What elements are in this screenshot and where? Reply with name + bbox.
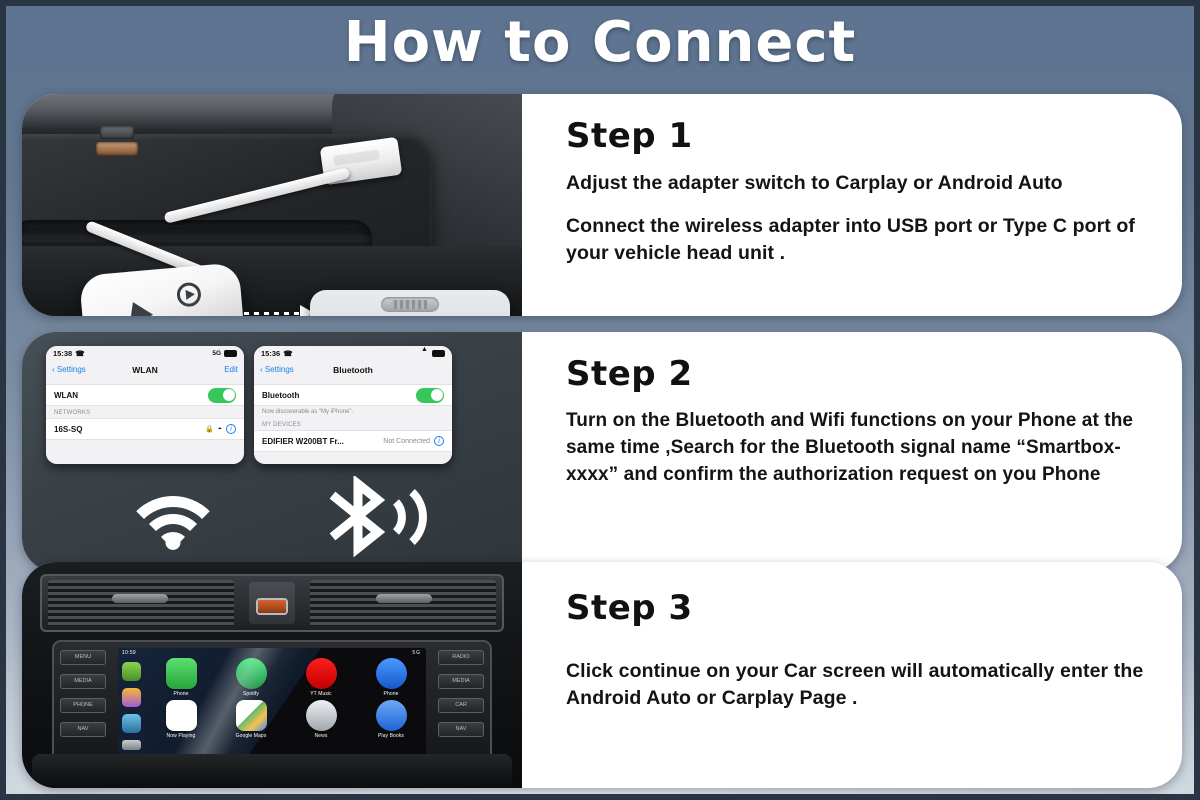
switch-slider-icon — [381, 297, 439, 312]
battery-icon — [432, 350, 445, 357]
air-vent-knob-right — [376, 594, 432, 603]
headunit-button-right-4[interactable]: NAV — [438, 722, 484, 737]
headunit-button-left-4[interactable]: NAV — [60, 722, 106, 737]
bluetooth-phone-body: Bluetooth Now discoverable as “My iPhone… — [254, 378, 452, 464]
info-icon[interactable]: i — [434, 436, 444, 446]
wifi-settings-phone: 15:38 ☎ 5G ‹ Settings WLAN Edit — [46, 346, 244, 464]
step-1-body: Adjust the adapter switch to Carplay or … — [566, 170, 1152, 267]
nav-title: Bluetooth — [254, 365, 452, 375]
step-3-paragraph-1: Click continue on your Car screen will a… — [566, 658, 1152, 712]
headunit-button-right-3[interactable]: CAR — [438, 698, 484, 713]
bluetooth-device-item[interactable]: EDIFIER W200BT Fr... Not Connected i — [254, 430, 452, 452]
car-console-with-adapter-photo: androidauto CarPlay — [22, 94, 522, 316]
status-time: 15:36 — [261, 349, 280, 358]
app-tile[interactable]: Spotify — [218, 658, 284, 697]
carplay-sidebar — [118, 658, 144, 766]
networks-section-header: NETWORKS — [46, 406, 244, 418]
headunit-button-right-1[interactable]: RADIO — [438, 650, 484, 665]
headunit-button-left-1[interactable]: MENU — [60, 650, 106, 665]
step-1-paragraph-1: Adjust the adapter switch to Carplay or … — [566, 170, 1152, 197]
air-vents — [40, 574, 504, 632]
wifi-phone-status-bar: 15:38 ☎ 5G — [46, 346, 244, 361]
step-1-card: androidauto CarPlay Step 1 Adjust the ad… — [22, 94, 1182, 316]
status-right-group — [421, 350, 445, 358]
app-label: Phone — [358, 691, 424, 697]
air-vent-knob-left — [112, 594, 168, 603]
wifi-icon — [421, 350, 429, 358]
bluetooth-toggle-switch[interactable] — [416, 388, 444, 403]
app-grid: Phone Spotify YT Music — [148, 658, 424, 739]
usb-c-port-icon — [100, 126, 134, 139]
call-icon: ☎ — [75, 349, 84, 358]
app-label: YT Music — [288, 691, 354, 697]
wifi-phone-body: WLAN NETWORKS 16S-SQ 🔒 ◓ i — [46, 378, 244, 464]
my-devices-section-header: MY DEVICES — [254, 418, 452, 430]
now-playing-icon — [166, 700, 197, 731]
carplay-icon — [176, 282, 202, 308]
step-2-card: 15:38 ☎ 5G ‹ Settings WLAN Edit — [22, 332, 1182, 572]
android-auto-icon — [121, 297, 153, 316]
app-tile[interactable]: Google Maps — [218, 700, 284, 739]
pointer-arrow-icon — [244, 312, 302, 315]
device-row-meta: Not Connected i — [383, 436, 444, 446]
app-tile[interactable]: Phone — [358, 658, 424, 697]
air-vent-right — [310, 580, 496, 626]
screen-status-right: 5G — [412, 650, 421, 656]
wifi-dot — [166, 535, 181, 550]
maps-icon[interactable] — [122, 714, 141, 733]
lock-icon: 🔒 — [205, 425, 214, 433]
status-network-label: 5G — [212, 350, 221, 357]
app-tile[interactable]: Play Books — [358, 700, 424, 739]
step-1-text: Step 1 Adjust the adapter switch to Carp… — [522, 94, 1182, 316]
step-1-paragraph-2: Connect the wireless adapter into USB po… — [566, 213, 1152, 267]
wlan-toggle-row[interactable]: WLAN — [46, 384, 244, 406]
app-label: Spotify — [218, 691, 284, 697]
how-to-connect-poster: How to Connect — [0, 0, 1200, 800]
screen-status-time: 10:59 — [122, 650, 136, 656]
youtube-music-icon — [306, 658, 337, 689]
info-icon[interactable]: i — [226, 424, 236, 434]
app-tile[interactable]: YT Music — [288, 658, 354, 697]
step-3-text: Step 3 Click continue on your Car screen… — [522, 562, 1182, 788]
app-tile[interactable]: Phone — [148, 658, 214, 697]
adapter-switch-overlay: androidauto CarPlay — [310, 290, 510, 316]
device-status: Not Connected — [383, 438, 430, 445]
sidebar-app-icon-1[interactable] — [122, 662, 141, 681]
hazard-lights-button[interactable] — [249, 582, 295, 624]
app-tile[interactable]: Now Playing — [148, 700, 214, 739]
air-vent-left — [48, 580, 234, 626]
app-label: Google Maps — [218, 733, 284, 739]
wlan-toggle-label: WLAN — [54, 391, 78, 400]
step-2-paragraph-1: Turn on the Bluetooth and Wifi functions… — [566, 408, 1152, 489]
bluetooth-phone-status-bar: 15:36 ☎ — [254, 346, 452, 361]
step-2-text: Step 2 Turn on the Bluetooth and Wifi fu… — [522, 332, 1182, 572]
nav-title: WLAN — [46, 365, 244, 375]
network-row-icons: 🔒 ◓ i — [205, 424, 236, 434]
wifi-icon: ◓ — [218, 426, 222, 433]
bluetooth-icon — [322, 476, 442, 558]
headunit-button-right-2[interactable]: MEDIA — [438, 674, 484, 689]
dashboard-background: MENU MEDIA PHONE NAV RADIO MEDIA CAR NAV… — [22, 562, 522, 788]
play-books-icon — [376, 700, 407, 731]
infotainment-screen[interactable]: 10:59 5G Phone — [118, 648, 426, 766]
step-3-heading: Step 3 — [566, 588, 1152, 628]
bluetooth-toggle-row[interactable]: Bluetooth — [254, 384, 452, 406]
battery-icon — [224, 350, 237, 357]
music-icon[interactable] — [122, 688, 141, 707]
news-icon — [306, 700, 337, 731]
network-name: 16S-SQ — [54, 425, 82, 434]
wifi-icon — [118, 480, 228, 556]
phone-settings-screens-photo: 15:38 ☎ 5G ‹ Settings WLAN Edit — [22, 332, 522, 572]
headunit-button-left-2[interactable]: MEDIA — [60, 674, 106, 689]
app-label: Now Playing — [148, 733, 214, 739]
call-icon: ☎ — [283, 349, 292, 358]
usb-a-port-icon — [96, 142, 138, 156]
phone-icon — [166, 658, 197, 689]
page-title: How to Connect — [6, 12, 1194, 74]
step-2-body: Turn on the Bluetooth and Wifi functions… — [566, 408, 1152, 489]
step-3-body: Click continue on your Car screen will a… — [566, 658, 1152, 712]
bluetooth-toggle-label: Bluetooth — [262, 391, 299, 400]
spotify-icon — [236, 658, 267, 689]
app-tile[interactable]: News — [288, 700, 354, 739]
step-1-heading: Step 1 — [566, 116, 1152, 156]
bluetooth-glyph — [322, 476, 442, 558]
app-label: Phone — [148, 691, 214, 697]
network-list-item[interactable]: 16S-SQ 🔒 ◓ i — [46, 418, 244, 440]
bluetooth-settings-phone: 15:36 ☎ ‹ Settings Bluetooth Bluetoot — [254, 346, 452, 464]
wlan-toggle-switch[interactable] — [208, 388, 236, 403]
bluetooth-phone-nav-bar: ‹ Settings Bluetooth — [254, 361, 452, 378]
step-3-card: MENU MEDIA PHONE NAV RADIO MEDIA CAR NAV… — [22, 562, 1182, 788]
step-2-heading: Step 2 — [566, 354, 1152, 394]
discoverable-hint: Now discoverable as “My iPhone”. — [254, 406, 452, 418]
console-background: androidauto CarPlay — [22, 94, 522, 316]
status-right-group: 5G — [212, 350, 237, 357]
dashboard-lower-panel — [32, 754, 512, 788]
app-label: Play Books — [358, 733, 424, 739]
status-time: 15:38 — [53, 349, 72, 358]
car-dashboard-headunit-photo: MENU MEDIA PHONE NAV RADIO MEDIA CAR NAV… — [22, 562, 522, 788]
phone-icon — [376, 658, 407, 689]
google-maps-icon — [236, 700, 267, 731]
headunit-button-left-3[interactable]: PHONE — [60, 698, 106, 713]
phone-photo-background: 15:38 ☎ 5G ‹ Settings WLAN Edit — [22, 332, 522, 572]
device-name: EDIFIER W200BT Fr... — [262, 437, 344, 446]
connectivity-icons-group — [22, 470, 522, 566]
grid-icon[interactable] — [122, 740, 141, 750]
wifi-phone-nav-bar: ‹ Settings WLAN Edit — [46, 361, 244, 378]
app-label: News — [288, 733, 354, 739]
